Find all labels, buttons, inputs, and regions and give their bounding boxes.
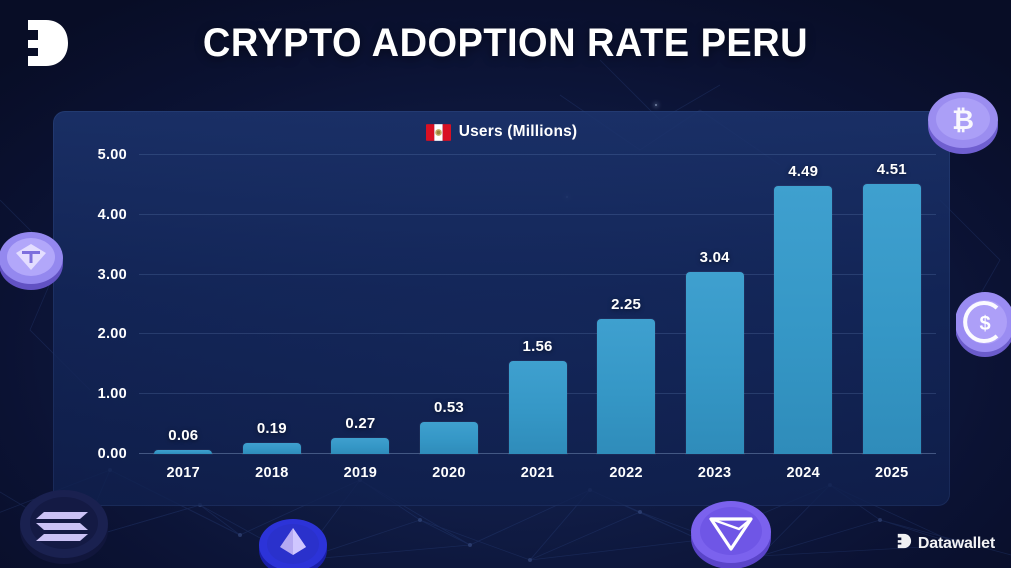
- bar[interactable]: [686, 272, 744, 454]
- y-axis-tick-label: 3.00: [98, 267, 127, 283]
- bar-value-label: 0.19: [257, 420, 287, 437]
- bar-value-label: 4.51: [877, 161, 907, 178]
- x-axis-tick-label: 2018: [255, 465, 288, 481]
- bar-value-label: 0.53: [434, 399, 464, 416]
- bar-value-label: 2.25: [611, 296, 641, 313]
- bar-series: 0.0620170.1920180.2720190.5320201.562021…: [139, 155, 936, 454]
- chart-legend: Users (Millions): [53, 123, 950, 141]
- bar[interactable]: [509, 361, 567, 454]
- bar-slot[interactable]: 2.252022: [582, 155, 671, 454]
- bar-slot[interactable]: 0.062017: [139, 155, 228, 454]
- bar-value-label: 0.27: [345, 415, 375, 432]
- bar[interactable]: [243, 443, 301, 454]
- ethereum-coin: [252, 512, 334, 568]
- bar-value-label: 1.56: [523, 338, 553, 355]
- infographic-canvas: CRYPTO ADOPTION RATE PERU Users (Million…: [0, 0, 1011, 568]
- sparkle-decoration: [655, 104, 657, 106]
- plot-area: 0.001.002.003.004.005.00 0.0620170.19201…: [139, 155, 936, 454]
- solana-coin: [12, 484, 116, 568]
- bar[interactable]: [774, 186, 832, 455]
- svg-text:$: $: [979, 313, 990, 335]
- x-axis-tick-label: 2023: [698, 465, 731, 481]
- bar[interactable]: [597, 319, 655, 454]
- header: CRYPTO ADOPTION RATE PERU: [0, 0, 1011, 86]
- y-axis-tick-label: 5.00: [98, 147, 127, 163]
- tether-coin: [0, 222, 68, 294]
- datawallet-d-logo-icon: [896, 533, 912, 554]
- x-axis-tick-label: 2022: [609, 465, 642, 481]
- bar-slot[interactable]: 4.512025: [848, 155, 937, 454]
- watermark: Datawallet: [896, 533, 995, 554]
- bar[interactable]: [154, 450, 212, 454]
- bar-value-label: 4.49: [788, 163, 818, 180]
- svg-text:₿: ₿: [952, 105, 974, 135]
- bar-slot[interactable]: 0.192018: [228, 155, 317, 454]
- y-axis-tick-label: 2.00: [98, 326, 127, 342]
- bar-slot[interactable]: 0.272019: [316, 155, 405, 454]
- page-title: CRYPTO ADOPTION RATE PERU: [25, 21, 985, 66]
- bar-slot[interactable]: 4.492024: [759, 155, 848, 454]
- bar[interactable]: [863, 184, 921, 454]
- tron-coin: [684, 496, 778, 568]
- watermark-text: Datawallet: [918, 535, 995, 553]
- bar-value-label: 3.04: [700, 249, 730, 266]
- chart-panel: Users (Millions) 0.001.002.003.004.005.0…: [53, 111, 950, 506]
- bar[interactable]: [420, 422, 478, 454]
- x-axis-tick-label: 2020: [432, 465, 465, 481]
- bar-slot[interactable]: 3.042023: [670, 155, 759, 454]
- bar-slot[interactable]: 1.562021: [493, 155, 582, 454]
- bar-slot[interactable]: 0.532020: [405, 155, 494, 454]
- y-axis-tick-label: 1.00: [98, 386, 127, 402]
- x-axis-tick-label: 2019: [344, 465, 377, 481]
- legend-label: Users (Millions): [459, 123, 578, 141]
- x-axis-tick-label: 2025: [875, 465, 908, 481]
- bar-value-label: 0.06: [168, 427, 198, 444]
- y-axis-tick-label: 4.00: [98, 207, 127, 223]
- bar[interactable]: [331, 438, 389, 454]
- y-axis-tick-label: 0.00: [98, 446, 127, 462]
- bitcoin-coin: ₿: [922, 82, 1004, 158]
- x-axis-tick-label: 2021: [521, 465, 554, 481]
- peru-flag-icon: [426, 124, 451, 141]
- x-axis-tick-label: 2024: [786, 465, 819, 481]
- usdc-coin: $: [956, 286, 1011, 360]
- x-axis-tick-label: 2017: [167, 465, 200, 481]
